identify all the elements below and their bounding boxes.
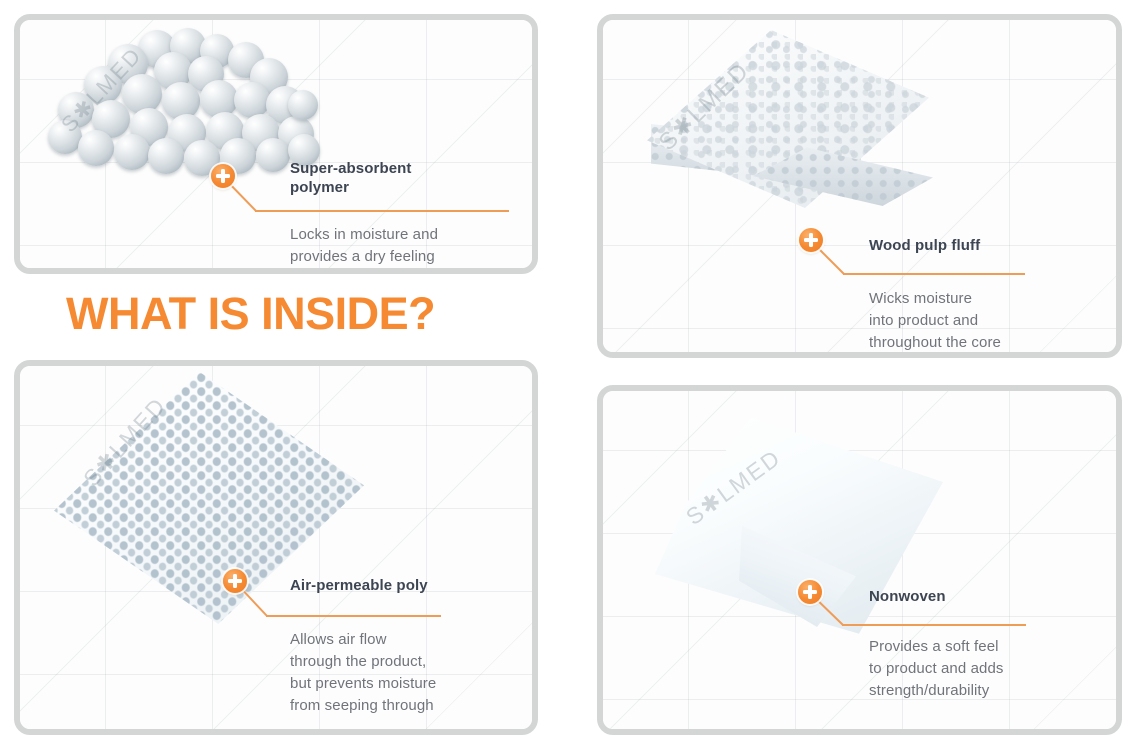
callout-title: Nonwoven: [869, 587, 1099, 606]
infographic-root: S✱LMED Super-absorbent polymer Locks in …: [0, 0, 1136, 749]
card-inner: S✱LMED Air-permeable poly Allows air flo…: [20, 366, 532, 729]
card-nonwoven[interactable]: S✱LMED Nonwoven Provides a soft feel to …: [597, 385, 1122, 735]
callout-body: Locks in moisture and provides a dry fee…: [290, 224, 530, 268]
callout-body: Wicks moisture into product and througho…: [869, 288, 1109, 352]
card-wood-pulp-fluff[interactable]: S✱LMED Wood pulp fluff Wicks moisture in…: [597, 14, 1122, 358]
plus-circle-icon[interactable]: [223, 569, 247, 593]
plus-circle-icon[interactable]: [799, 228, 823, 252]
callout-title: Air-permeable poly: [290, 576, 530, 595]
callout-body: Allows air flow through the product, but…: [290, 629, 532, 717]
callout-title: Wood pulp fluff: [869, 236, 1099, 255]
card-air-permeable-poly[interactable]: S✱LMED Air-permeable poly Allows air flo…: [14, 360, 538, 735]
page-title: WHAT IS INSIDE?: [66, 288, 435, 340]
card-super-absorbent-polymer[interactable]: S✱LMED Super-absorbent polymer Locks in …: [14, 14, 538, 274]
plus-circle-icon[interactable]: [798, 580, 822, 604]
callout-body: Provides a soft feel to product and adds…: [869, 636, 1116, 702]
plus-circle-icon[interactable]: [211, 164, 235, 188]
card-inner: S✱LMED Nonwoven Provides a soft feel to …: [603, 391, 1116, 729]
callout-title: Super-absorbent polymer: [290, 159, 520, 197]
card-inner: S✱LMED Super-absorbent polymer Locks in …: [20, 20, 532, 268]
card-inner: S✱LMED Wood pulp fluff Wicks moisture in…: [603, 20, 1116, 352]
